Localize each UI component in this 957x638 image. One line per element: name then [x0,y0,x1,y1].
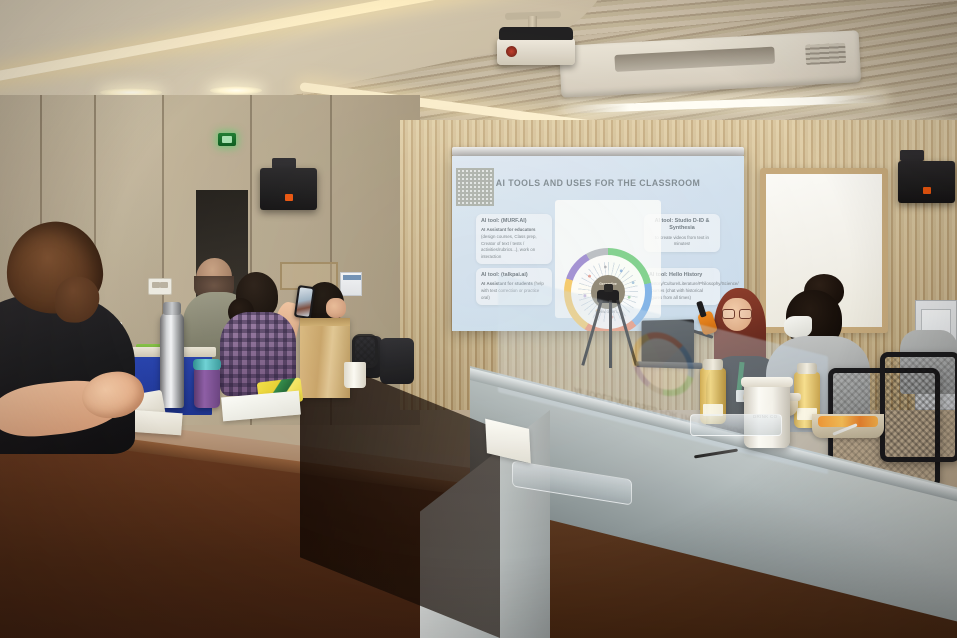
wall-speaker-left [260,168,317,210]
wall-notice-sign [340,272,362,296]
speaker-bracket-right [900,150,924,161]
purple-travel-mug [194,368,220,408]
glass-tray-right [690,414,782,436]
speaker-brand-badge [285,194,293,201]
brown-paper-bag [300,318,350,398]
speaker-brand-badge-right [923,187,931,194]
chair-back-left-2[interactable] [380,338,414,384]
projection-screen-housing [452,147,744,156]
white-cup-far [344,362,366,388]
stainless-steel-thermos [160,312,184,408]
slide-title: AI TOOLS AND USES FOR THE CLASSROOM [464,178,733,189]
ceiling-projector [497,38,575,65]
chair-right-back[interactable] [880,352,957,462]
slide-card-murf-bold: AI Assistant for educators [481,227,536,232]
wall-speaker-right [898,161,955,203]
slide-card-murf-title: AI tool: (MURF.AI) [481,218,547,225]
projector-lens-icon [506,46,517,57]
face [326,298,346,318]
projector-bracket [499,27,573,40]
face-mask-icon [784,316,812,338]
reflected-wheel [632,325,694,402]
emergency-exit-sign [218,133,236,146]
light-switch-plate[interactable] [148,278,172,295]
downlight-left-2 [210,86,262,95]
eyeglasses-icon [722,309,752,317]
slide-card-murf-body: (design courses, Class prep, Creator of … [481,234,537,259]
slide-card-murf: AI tool: (MURF.AI) AI Assistant for educ… [476,214,552,264]
conference-room-scene: AI TOOLS AND USES FOR THE CLASSROOM AI t… [0,0,957,638]
